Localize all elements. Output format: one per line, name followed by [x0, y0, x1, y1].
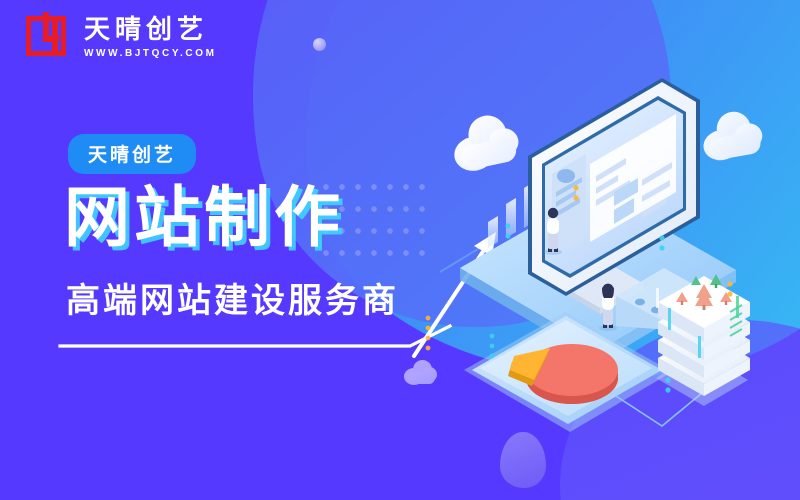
decorative-sphere — [313, 38, 326, 51]
brand-name-cn: 天晴创艺 — [84, 14, 217, 44]
brand-logo[interactable]: 天晴创艺 WWW.BJTQCY.COM — [26, 12, 217, 60]
page-subtitle: 高端网站建设服务商 — [66, 280, 399, 322]
brand-website-url: WWW.BJTQCY.COM — [84, 48, 217, 59]
promo-banner: 天晴创艺 WWW.BJTQCY.COM 天晴创艺 网站制作 高端网站建设服务商 — [0, 0, 800, 500]
isometric-illustration — [400, 40, 800, 480]
page-title: 网站制作 — [64, 180, 344, 254]
underline-arrow — [58, 324, 458, 372]
brand-badge: 天晴创艺 — [68, 134, 196, 174]
tianqing-logo-mark-icon — [26, 12, 74, 60]
